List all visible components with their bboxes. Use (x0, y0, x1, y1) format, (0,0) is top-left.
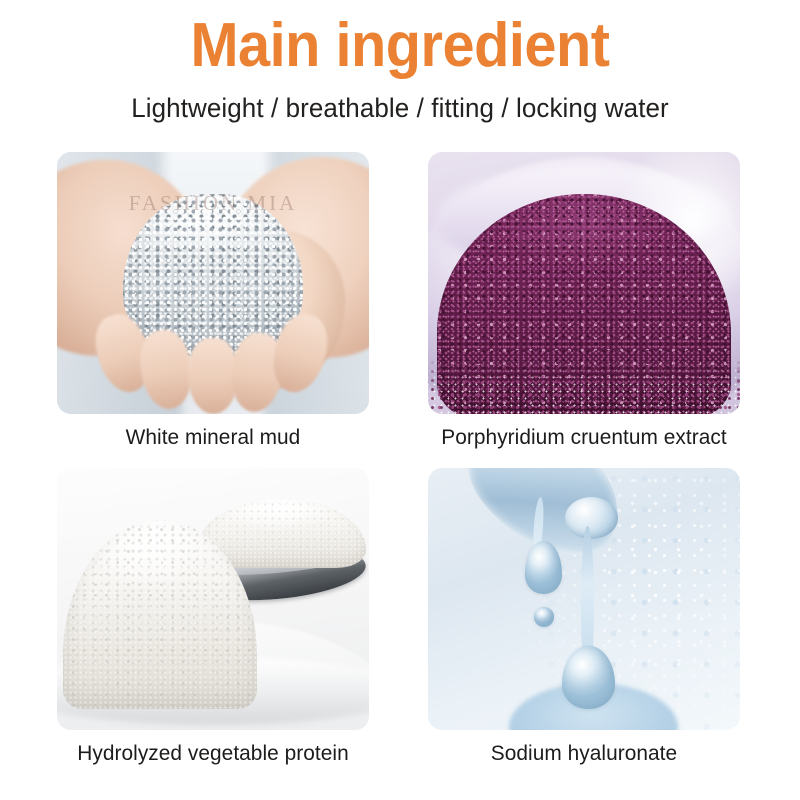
ingredient-caption: White mineral mud (62, 414, 365, 450)
ingredient-photo-sodium-hyaluronate (428, 468, 740, 730)
mud-granule-texture (123, 194, 304, 356)
ingredient-card: Hydrolyzed vegetable protein (57, 468, 369, 766)
ingredient-card: Porphyridium cruentum extract (428, 152, 740, 450)
ingredient-card: Sodium hyaluronate (428, 468, 740, 766)
mineral-mud-heap (123, 194, 304, 356)
ingredient-caption: Porphyridium cruentum extract (433, 414, 736, 450)
ingredient-photo-hydrolyzed-vegetable-protein (57, 468, 369, 730)
ingredient-photo-white-mineral-mud: FASHION MIA (57, 152, 369, 414)
ingredient-photo-porphyridium-extract (428, 152, 740, 414)
infographic-page: Main ingredient Lightweight / breathable… (0, 0, 800, 800)
page-subtitle: Lightweight / breathable / fitting / loc… (8, 78, 792, 123)
header: Main ingredient Lightweight / breathable… (0, 0, 800, 124)
ingredient-grid: FASHION MIA White mineral mud Porphyridi… (0, 152, 800, 800)
ingredient-caption: Hydrolyzed vegetable protein (62, 730, 365, 766)
dropper-tip (565, 497, 618, 539)
ingredient-card: FASHION MIA White mineral mud (57, 152, 369, 450)
gel-droplet-small (534, 607, 554, 627)
page-title: Main ingredient (28, 0, 772, 78)
scattered-powder (428, 356, 740, 414)
ingredient-caption: Sodium hyaluronate (433, 730, 736, 766)
